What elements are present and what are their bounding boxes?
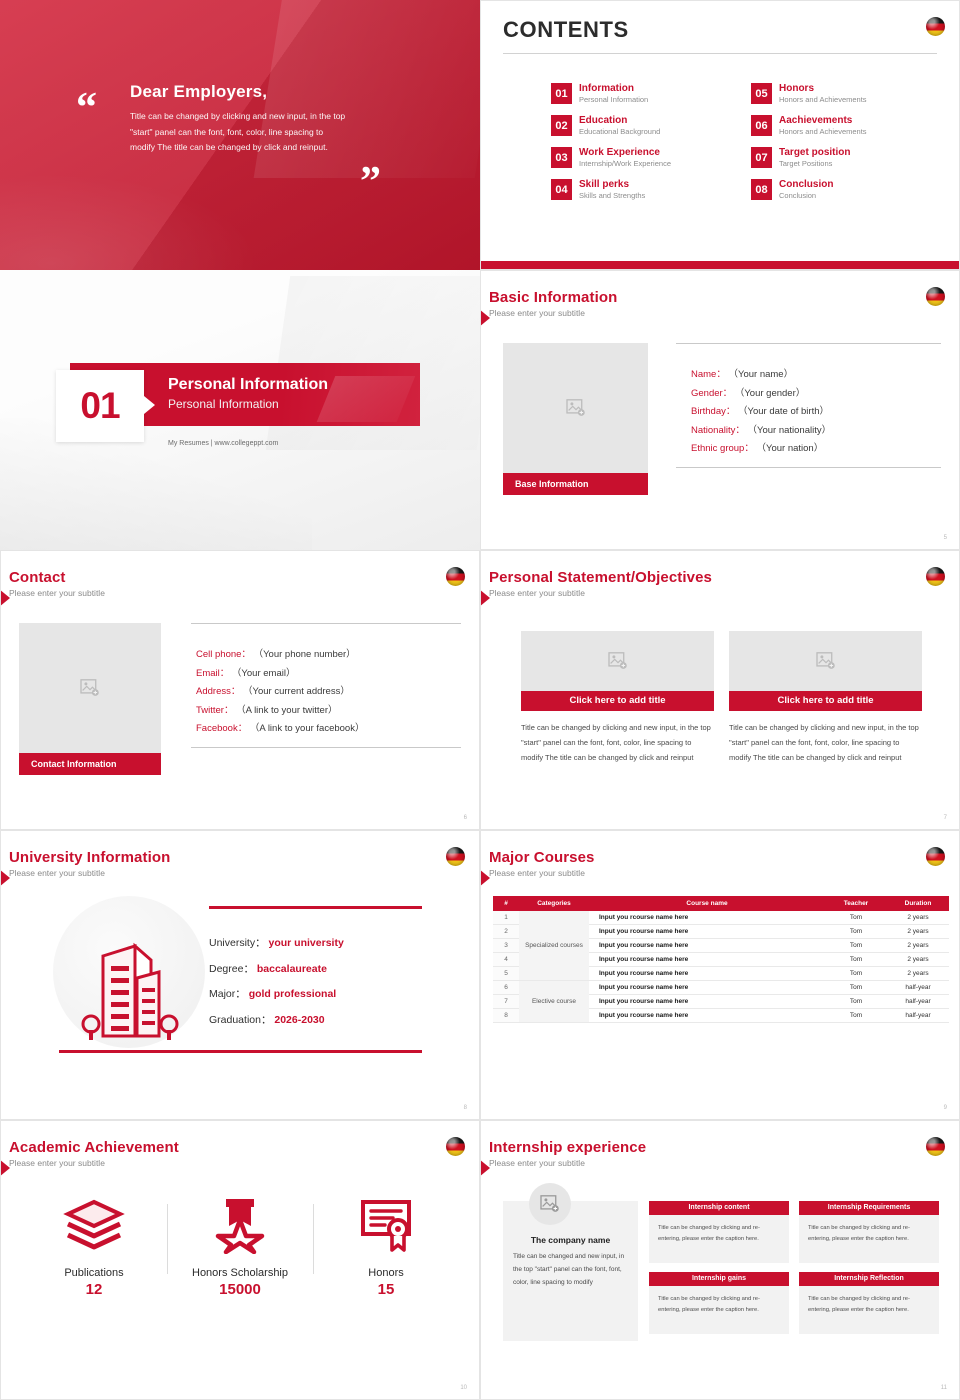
cell-index: 5	[493, 967, 519, 981]
table-header-row: # Categories Course name Teacher Duratio…	[493, 896, 949, 911]
page-number: 8	[464, 1105, 467, 1111]
university-bottom-rule	[59, 1050, 422, 1053]
contents-item-number: 05	[751, 83, 772, 104]
header-arrow-icon	[480, 589, 490, 607]
internship-card-text: Title can be changed by clicking and re-…	[799, 1286, 939, 1334]
contents-item-desc: Personal Information	[579, 95, 648, 104]
photo-placeholder[interactable]	[729, 631, 922, 691]
university-key: University：	[209, 937, 266, 949]
slide-header: Contact Please enter your subtitle	[9, 569, 105, 598]
slide-basic-information[interactable]: Basic Information Please enter your subt…	[480, 270, 960, 550]
university-value[interactable]: gold professional	[249, 988, 337, 1000]
page-subtitle: Please enter your subtitle	[489, 588, 712, 598]
page-title: Contact	[9, 569, 105, 586]
cell-duration[interactable]: half-year	[887, 1009, 949, 1023]
statement-card[interactable]: Click here to add title Title can be cha…	[729, 631, 922, 765]
info-value[interactable]: （Your phone number）	[254, 649, 356, 660]
contents-item[interactable]: 01 Information Personal Information	[551, 83, 729, 104]
info-key: Facebook：	[196, 723, 247, 734]
achievement-stat[interactable]: Honors Scholarship 15000	[167, 1196, 313, 1298]
slide-section-divider[interactable]: 01 Personal Information Personal Informa…	[0, 270, 480, 550]
cell-index: 2	[493, 925, 519, 939]
photo-caption: Contact Information	[19, 753, 161, 775]
internship-card[interactable]: Internship content Title can be changed …	[649, 1201, 789, 1263]
contents-item-number: 03	[551, 147, 572, 168]
contents-item-desc: Target Positions	[779, 159, 850, 168]
cell-index: 3	[493, 939, 519, 953]
info-key: Nationality：	[691, 425, 745, 436]
cell-duration[interactable]: 2 years	[887, 925, 949, 939]
slide-header: University Information Please enter your…	[9, 849, 170, 878]
add-title-button[interactable]: Click here to add title	[729, 691, 922, 711]
page-number: 10	[460, 1385, 467, 1391]
info-key: Ethnic group：	[691, 443, 754, 454]
contents-item-label: Information	[579, 83, 648, 94]
cell-duration[interactable]: 2 years	[887, 953, 949, 967]
info-key: Gender：	[691, 388, 732, 399]
page-subtitle: Please enter your subtitle	[9, 868, 170, 878]
info-key: Address：	[196, 686, 240, 697]
german-flag-icon	[926, 1137, 945, 1156]
slide-deck: “ Dear Employers, Title can be changed b…	[0, 0, 960, 1400]
info-value[interactable]: （Your nation）	[756, 443, 823, 454]
page-title: Internship experience	[489, 1139, 646, 1156]
col-duration: Duration	[887, 896, 949, 911]
achievement-label: Publications	[21, 1267, 167, 1279]
company-photo-placeholder[interactable]	[529, 1183, 571, 1225]
internship-card-text: Title can be changed by clicking and re-…	[799, 1215, 939, 1263]
page-number: 9	[944, 1105, 947, 1111]
cell-duration[interactable]: half-year	[887, 981, 949, 995]
contents-item[interactable]: 03 Work Experience Internship/Work Exper…	[551, 147, 729, 168]
contents-item-label: Aachievements	[779, 115, 867, 126]
table-row[interactable]: 6 Elective course Input you rcourse name…	[493, 981, 949, 995]
page-subtitle: Please enter your subtitle	[489, 1158, 646, 1168]
cell-name[interactable]: Input you rcourse name here	[589, 911, 825, 925]
cell-duration[interactable]: 2 years	[887, 939, 949, 953]
contents-item-number: 01	[551, 83, 572, 104]
slide-academic-achievement[interactable]: Academic Achievement Please enter your s…	[0, 1120, 480, 1400]
photo-caption: Base Information	[503, 473, 648, 495]
cell-duration[interactable]: 2 years	[887, 967, 949, 981]
cell-category: Elective course	[519, 981, 589, 1023]
col-category: Categories	[519, 896, 589, 911]
info-row: Twitter： （A link to your twitter）	[196, 702, 461, 721]
university-row: University： your university	[209, 931, 422, 957]
cell-teacher[interactable]: Tom	[825, 953, 887, 967]
university-row: Major： gold professional	[209, 982, 422, 1008]
german-flag-icon	[926, 847, 945, 866]
internship-card-title: Internship Requirements	[799, 1201, 939, 1215]
certificate-icon	[355, 1196, 417, 1254]
university-panel: University： your university Degree： bacc…	[59, 906, 422, 1053]
info-bottom-rule	[191, 747, 461, 748]
company-name: The company name	[513, 1235, 628, 1245]
cell-index: 4	[493, 953, 519, 967]
slide-header: Internship experience Please enter your …	[489, 1139, 646, 1168]
image-placeholder-icon	[566, 399, 586, 417]
contents-item-desc: Honors and Achievements	[779, 127, 867, 136]
page-subtitle: Please enter your subtitle	[9, 588, 105, 598]
info-row: Address： （Your current address）	[196, 683, 461, 702]
internship-cards: Internship content Title can be changed …	[649, 1201, 939, 1334]
internship-card-title: Internship content	[649, 1201, 789, 1215]
cell-name[interactable]: Input you rcourse name here	[589, 953, 825, 967]
cell-teacher[interactable]: Tom	[825, 967, 887, 981]
cell-duration[interactable]: half-year	[887, 995, 949, 1009]
quote-close-icon: ”	[360, 170, 381, 195]
slide-cover[interactable]: “ Dear Employers, Title can be changed b…	[0, 0, 480, 270]
contents-item-label: Work Experience	[579, 147, 671, 158]
contents-item-number: 04	[551, 179, 572, 200]
cell-name[interactable]: Input you rcourse name here	[589, 995, 825, 1009]
contents-item-label: Target position	[779, 147, 850, 158]
photo-placeholder[interactable]	[19, 623, 161, 753]
contents-title: CONTENTS	[503, 17, 629, 43]
info-value[interactable]: （Your email）	[232, 668, 296, 679]
contents-item[interactable]: 02 Education Educational Background	[551, 115, 729, 136]
achievement-value: 12	[21, 1281, 167, 1298]
page-number: 6	[464, 815, 467, 821]
cover-text-block: Dear Employers, Title can be changed by …	[130, 82, 350, 156]
divider-footer: My Resumes | www.collegeppt.com	[168, 440, 278, 447]
image-placeholder-icon	[608, 652, 628, 670]
header-arrow-icon	[480, 1159, 490, 1177]
achievement-stat[interactable]: Publications 12	[21, 1196, 167, 1298]
contents-item-label: Conclusion	[779, 179, 833, 190]
statement-text: Title can be changed by clicking and new…	[729, 720, 922, 765]
page-number: 7	[944, 815, 947, 821]
contents-item-number: 02	[551, 115, 572, 136]
info-value[interactable]: （A link to your twitter）	[236, 705, 337, 716]
university-row: Degree： baccalaureate	[209, 957, 422, 983]
university-value[interactable]: baccalaureate	[257, 963, 327, 975]
contents-item-desc: Conclusion	[779, 191, 833, 200]
slide-contents[interactable]: CONTENTS 01 Information Personal Informa…	[480, 0, 960, 270]
info-key: Twitter：	[196, 705, 233, 716]
achievement-label: Honors	[313, 1267, 459, 1279]
add-title-button[interactable]: Click here to add title	[521, 691, 714, 711]
internship-card-title: Internship gains	[649, 1272, 789, 1286]
info-row: Gender： （Your gender）	[691, 385, 941, 404]
slide-header: Academic Achievement Please enter your s…	[9, 1139, 179, 1168]
cell-index: 8	[493, 1009, 519, 1023]
company-description: Title can be changed and new input, in t…	[513, 1250, 628, 1289]
slide-university-information[interactable]: University Information Please enter your…	[0, 830, 480, 1120]
info-row: Birthday： （Your date of birth）	[691, 403, 941, 422]
col-teacher: Teacher	[825, 896, 887, 911]
cover-body: Title can be changed by clicking and new…	[130, 109, 350, 156]
slide-contact[interactable]: Contact Please enter your subtitle Conta…	[0, 550, 480, 830]
cell-name[interactable]: Input you rcourse name here	[589, 939, 825, 953]
info-value[interactable]: （Your gender）	[735, 388, 805, 399]
german-flag-icon	[446, 567, 465, 586]
header-arrow-icon	[480, 309, 490, 327]
contents-item-label: Honors	[779, 83, 867, 94]
info-row: Name： （Your name）	[691, 366, 941, 385]
contents-item-desc: Honors and Achievements	[779, 95, 867, 104]
info-row: Facebook： （A link to your facebook）	[196, 720, 461, 739]
internship-card[interactable]: Internship Requirements Title can be cha…	[799, 1201, 939, 1263]
cell-teacher[interactable]: Tom	[825, 981, 887, 995]
cell-teacher[interactable]: Tom	[825, 925, 887, 939]
contents-divider-rule	[503, 53, 937, 54]
info-list: Name： （Your name） Gender： （Your gender） …	[676, 343, 941, 468]
info-row: Email： （Your email）	[196, 665, 461, 684]
info-key: Email：	[196, 668, 229, 679]
divider-number-box: 01	[56, 370, 144, 442]
achievement-value: 15000	[167, 1281, 313, 1298]
university-key: Graduation：	[209, 1014, 271, 1026]
contents-item-desc: Skills and Strengths	[579, 191, 645, 200]
info-key: Cell phone：	[196, 649, 251, 660]
contents-item-number: 08	[751, 179, 772, 200]
header-arrow-icon	[0, 589, 10, 607]
cell-category: Specialized courses	[519, 911, 589, 981]
page-number: 5	[944, 535, 947, 541]
col-name: Course name	[589, 896, 825, 911]
slide-internship-experience[interactable]: Internship experience Please enter your …	[480, 1120, 960, 1400]
slide-header: Major Courses Please enter your subtitle	[489, 849, 595, 878]
cell-index: 7	[493, 995, 519, 1009]
books-icon	[63, 1196, 125, 1254]
contents-item[interactable]: 08 Conclusion Conclusion	[751, 179, 929, 200]
cell-name[interactable]: Input you rcourse name here	[589, 1009, 825, 1023]
courses-table[interactable]: # Categories Course name Teacher Duratio…	[493, 896, 949, 1023]
achievement-value: 15	[313, 1281, 459, 1298]
cell-duration[interactable]: 2 years	[887, 911, 949, 925]
medal-icon	[209, 1196, 271, 1254]
info-row: Ethnic group： （Your nation）	[691, 440, 941, 459]
header-arrow-icon	[480, 869, 490, 887]
contents-item-label: Education	[579, 115, 660, 126]
info-value[interactable]: （A link to your facebook）	[250, 723, 365, 734]
cell-index: 6	[493, 981, 519, 995]
internship-card-title: Internship Reflection	[799, 1272, 939, 1286]
university-value[interactable]: 2026-2030	[274, 1014, 324, 1026]
contents-bottom-bar	[481, 261, 959, 269]
german-flag-icon	[926, 287, 945, 306]
cell-index: 1	[493, 911, 519, 925]
cell-name[interactable]: Input you rcourse name here	[589, 925, 825, 939]
page-subtitle: Please enter your subtitle	[489, 308, 617, 318]
cell-teacher[interactable]: Tom	[825, 939, 887, 953]
contents-item[interactable]: 06 Aachievements Honors and Achievements	[751, 115, 929, 136]
info-key: Name：	[691, 369, 726, 380]
university-value[interactable]: your university	[269, 937, 344, 949]
info-bottom-rule	[676, 467, 941, 468]
info-value[interactable]: （Your name）	[728, 369, 793, 380]
cell-name[interactable]: Input you rcourse name here	[589, 967, 825, 981]
image-placeholder-icon	[80, 679, 100, 697]
page-subtitle: Please enter your subtitle	[9, 1158, 179, 1168]
col-index: #	[493, 896, 519, 911]
info-key: Birthday：	[691, 406, 735, 417]
page-title: Academic Achievement	[9, 1139, 179, 1156]
cell-teacher[interactable]: Tom	[825, 995, 887, 1009]
university-key: Degree：	[209, 963, 254, 975]
quote-open-icon: “	[76, 96, 97, 121]
info-value[interactable]: （Your current address）	[243, 686, 350, 697]
info-row: Nationality： （Your nationality）	[691, 422, 941, 441]
page-subtitle: Please enter your subtitle	[489, 868, 595, 878]
image-placeholder-icon	[816, 652, 836, 670]
contents-item-desc: Educational Background	[579, 127, 660, 136]
german-flag-icon	[926, 17, 945, 36]
info-row: Cell phone： （Your phone number）	[196, 646, 461, 665]
page-title: Major Courses	[489, 849, 595, 866]
statement-card[interactable]: Click here to add title Title can be cha…	[521, 631, 714, 765]
internship-card[interactable]: Internship Reflection Title can be chang…	[799, 1272, 939, 1334]
divider-number: 01	[80, 385, 119, 427]
internship-card-text: Title can be changed by clicking and re-…	[649, 1286, 789, 1334]
photo-placeholder[interactable]	[503, 343, 648, 473]
contents-item[interactable]: 04 Skill perks Skills and Strengths	[551, 179, 729, 200]
achievement-stats: Publications 12 Honors Scholarship 15000	[21, 1196, 459, 1298]
internship-card-text: Title can be changed by clicking and re-…	[649, 1215, 789, 1263]
page-number: 11	[941, 1385, 947, 1391]
info-value[interactable]: （Your date of birth）	[738, 406, 829, 417]
contents-grid: 01 Information Personal Information 05 H…	[551, 83, 929, 200]
contents-item[interactable]: 07 Target position Target Positions	[751, 147, 929, 168]
slide-personal-statement[interactable]: Personal Statement/Objectives Please ent…	[480, 550, 960, 830]
info-value[interactable]: （Your nationality）	[748, 425, 832, 436]
divider-title: Personal Information	[168, 376, 328, 394]
german-flag-icon	[926, 567, 945, 586]
slide-major-courses[interactable]: Major Courses Please enter your subtitle…	[480, 830, 960, 1120]
table-row[interactable]: 1 Specialized courses Input you rcourse …	[493, 911, 949, 925]
cell-teacher[interactable]: Tom	[825, 1009, 887, 1023]
cell-teacher[interactable]: Tom	[825, 911, 887, 925]
cell-name[interactable]: Input you rcourse name here	[589, 981, 825, 995]
contents-item-label: Skill perks	[579, 179, 645, 190]
slide-header: Basic Information Please enter your subt…	[489, 289, 617, 318]
university-row: Graduation： 2026-2030	[209, 1008, 422, 1034]
contents-item-desc: Internship/Work Experience	[579, 159, 671, 168]
contents-item[interactable]: 05 Honors Honors and Achievements	[751, 83, 929, 104]
university-key: Major：	[209, 988, 246, 1000]
achievement-label: Honors Scholarship	[167, 1267, 313, 1279]
divider-triangle-icon	[144, 396, 155, 414]
header-arrow-icon	[0, 1159, 10, 1177]
page-title: Personal Statement/Objectives	[489, 569, 712, 586]
page-title: Basic Information	[489, 289, 617, 306]
cover-title: Dear Employers,	[130, 82, 350, 102]
page-title: University Information	[9, 849, 170, 866]
header-arrow-icon	[0, 869, 10, 887]
statement-text: Title can be changed by clicking and new…	[521, 720, 714, 765]
image-placeholder-icon	[540, 1195, 560, 1213]
contents-item-number: 06	[751, 115, 772, 136]
internship-card[interactable]: Internship gains Title can be changed by…	[649, 1272, 789, 1334]
company-panel[interactable]: The company name Title can be changed an…	[503, 1201, 638, 1341]
divider-subtitle: Personal Information	[168, 397, 279, 411]
contents-item-number: 07	[751, 147, 772, 168]
german-flag-icon	[446, 847, 465, 866]
info-list: Cell phone： （Your phone number） Email： （…	[191, 623, 461, 748]
achievement-stat[interactable]: Honors 15	[313, 1196, 459, 1298]
german-flag-icon	[446, 1137, 465, 1156]
slide-header: Personal Statement/Objectives Please ent…	[489, 569, 712, 598]
photo-placeholder[interactable]	[521, 631, 714, 691]
